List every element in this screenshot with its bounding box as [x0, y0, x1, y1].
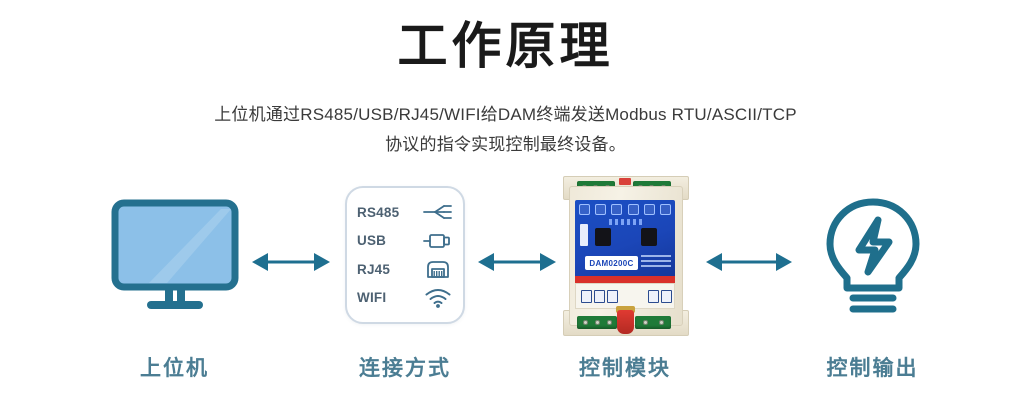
terminal-label-group-right [648, 290, 672, 303]
caption-host-computer: 上位机 [92, 352, 257, 382]
terminal-screw [607, 320, 612, 325]
terminal-block-bottom-right [635, 316, 671, 329]
caption-connection: 连接方式 [325, 352, 485, 382]
terminal-block-bottom-left [577, 316, 617, 329]
connection-label-wifi: WIFI [357, 290, 386, 305]
relay-block-right [641, 228, 657, 246]
terminal-label-box [607, 290, 618, 303]
arrow-connection-to-module [478, 250, 556, 274]
top-red-tab [619, 178, 631, 185]
pin-marker [595, 204, 606, 215]
connection-row-usb[interactable]: USB [357, 227, 455, 255]
arrow-module-to-output [706, 250, 792, 274]
device-spec-text [641, 255, 671, 270]
stage-control-module: DAM0200C [550, 170, 700, 340]
rj45-jack-icon [421, 257, 455, 281]
pin-marker [579, 204, 590, 215]
terminal-screw [583, 320, 588, 325]
device-pin-row [579, 203, 671, 215]
device-side-switch [580, 224, 588, 246]
relay-block-left [595, 228, 611, 246]
device-red-band [575, 276, 675, 283]
stage-control-output [790, 170, 955, 340]
terminal-label-box [594, 290, 605, 303]
lightbulb-lightning-icon [815, 194, 931, 316]
stage-host-computer [92, 170, 257, 340]
terminal-label-box [648, 290, 659, 303]
terminal-screw [595, 320, 600, 325]
pin-marker [611, 204, 622, 215]
caption-control-module: 控制模块 [545, 352, 705, 382]
device-center-marking [609, 219, 643, 225]
connection-row-rs485[interactable]: RS485 [357, 198, 455, 226]
subtitle-line-2: 协议的指令实现控制最终设备。 [0, 130, 1011, 160]
connection-methods-card: RS485 [345, 186, 465, 324]
rs485-bus-icon [421, 200, 455, 224]
terminal-label-group-left [581, 290, 618, 303]
subtitle-line-1: 上位机通过RS485/USB/RJ45/WIFI给DAM终端发送Modbus R… [0, 100, 1011, 130]
arrow-host-to-connection [252, 250, 330, 274]
subtitle: 上位机通过RS485/USB/RJ45/WIFI给DAM终端发送Modbus R… [0, 100, 1011, 160]
pin-marker [628, 204, 639, 215]
wifi-signal-icon [421, 286, 455, 310]
spec-line [641, 265, 671, 267]
pin-marker [660, 204, 671, 215]
terminal-screw [643, 320, 648, 325]
connection-label-rj45: RJ45 [357, 262, 390, 277]
caption-control-output: 控制输出 [790, 352, 955, 382]
terminal-screw [659, 320, 664, 325]
device-model-label: DAM0200C [585, 256, 638, 270]
connection-label-usb: USB [357, 233, 386, 248]
din-rail-clip [617, 310, 634, 334]
page-title: 工作原理 [0, 18, 1011, 76]
device-front-face: DAM0200C [575, 200, 675, 278]
stage-connection-methods: RS485 [335, 170, 475, 340]
spec-line [641, 260, 671, 262]
terminal-label-box [661, 290, 672, 303]
usb-connector-icon [421, 229, 455, 253]
desktop-monitor-icon [109, 197, 241, 313]
terminal-label-box [581, 290, 592, 303]
connection-label-rs485: RS485 [357, 205, 399, 220]
connection-row-rj45[interactable]: RJ45 [357, 255, 455, 283]
connection-row-wifi[interactable]: WIFI [357, 284, 455, 312]
spec-line [641, 255, 671, 257]
pin-marker [644, 204, 655, 215]
din-rail-relay-module-icon: DAM0200C [561, 174, 689, 336]
